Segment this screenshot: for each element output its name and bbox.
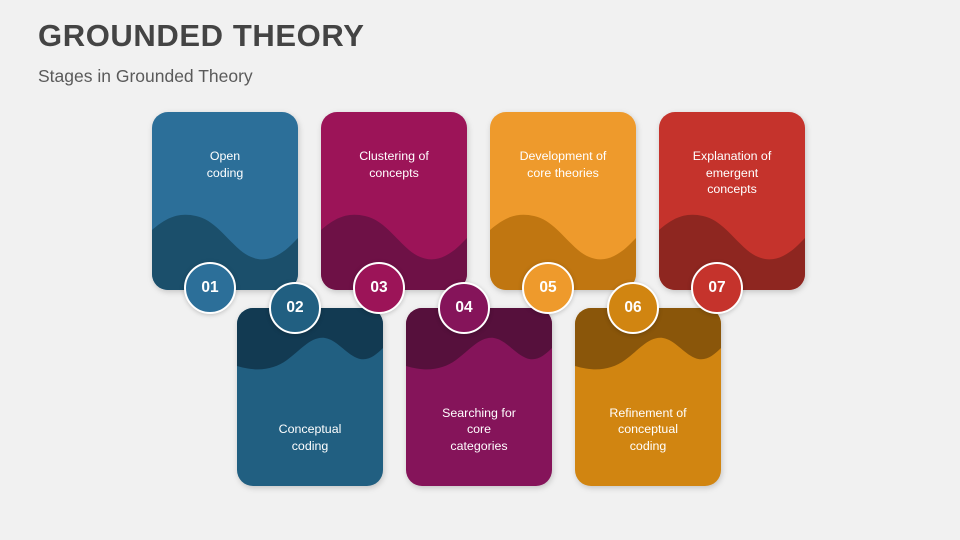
stage-card-06[interactable]: Refinement of conceptual coding [575, 308, 721, 486]
stage-card-04[interactable]: Searching for core categories [406, 308, 552, 486]
stage-number-text: 01 [201, 279, 218, 297]
slide-canvas: GROUNDED THEORY Stages in Grounded Theor… [0, 0, 960, 540]
stage-card-label: Explanation of emergent concepts [659, 148, 805, 198]
stages-diagram: Open coding01 Conceptual coding02 [0, 0, 960, 540]
stage-number-badge-07[interactable]: 07 [691, 262, 743, 314]
stage-number-text: 06 [624, 299, 641, 317]
stage-card-label: Open coding [152, 148, 298, 181]
stage-number-badge-02[interactable]: 02 [269, 282, 321, 334]
stage-number-text: 02 [286, 299, 303, 317]
stage-number-text: 05 [539, 279, 556, 297]
stage-number-badge-05[interactable]: 05 [522, 262, 574, 314]
stage-card-label: Clustering of concepts [321, 148, 467, 181]
stage-card-label: Conceptual coding [237, 421, 383, 454]
stage-number-text: 04 [455, 299, 472, 317]
stage-number-badge-01[interactable]: 01 [184, 262, 236, 314]
stage-number-badge-04[interactable]: 04 [438, 282, 490, 334]
stage-card-label: Searching for core categories [406, 405, 552, 455]
stage-number-badge-06[interactable]: 06 [607, 282, 659, 334]
stage-number-text: 07 [708, 279, 725, 297]
stage-card-07[interactable]: Explanation of emergent concepts [659, 112, 805, 290]
stage-card-label: Development of core theories [490, 148, 636, 181]
stage-card-label: Refinement of conceptual coding [575, 405, 721, 455]
stage-card-01[interactable]: Open coding [152, 112, 298, 290]
stage-number-badge-03[interactable]: 03 [353, 262, 405, 314]
stage-card-02[interactable]: Conceptual coding [237, 308, 383, 486]
stage-number-text: 03 [370, 279, 387, 297]
stage-card-03[interactable]: Clustering of concepts [321, 112, 467, 290]
stage-card-05[interactable]: Development of core theories [490, 112, 636, 290]
